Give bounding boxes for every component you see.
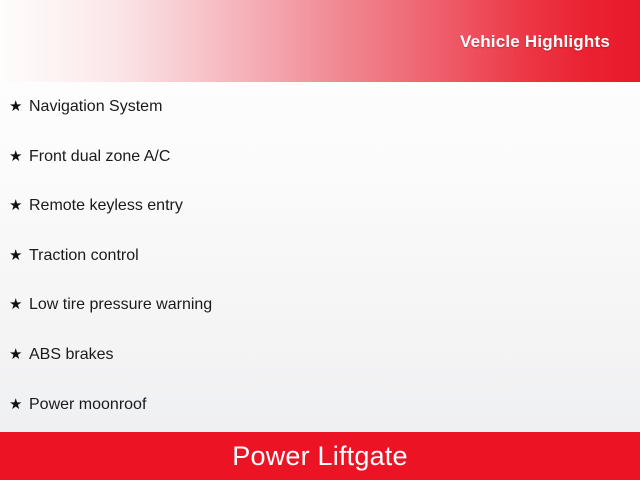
list-item: ★Power moonroof xyxy=(0,394,640,416)
vehicle-highlights-slide: Vehicle Highlights ★Navigation System★Fr… xyxy=(0,0,640,480)
header-banner: Vehicle Highlights xyxy=(0,0,640,82)
vehicle-highlights-list: ★Navigation System★Front dual zone A/C★R… xyxy=(0,82,640,480)
footer-banner: Power Liftgate xyxy=(0,432,640,480)
list-item: ★ABS brakes xyxy=(0,344,640,366)
star-bullet-icon: ★ xyxy=(9,245,29,267)
list-item: ★Front dual zone A/C xyxy=(0,146,640,168)
highlight-label: ABS brakes xyxy=(29,344,113,366)
footer-feature-title: Power Liftgate xyxy=(232,443,407,470)
highlight-label: Remote keyless entry xyxy=(29,195,183,217)
highlight-label: Power moonroof xyxy=(29,394,146,416)
highlight-label: Navigation System xyxy=(29,96,162,118)
star-bullet-icon: ★ xyxy=(9,394,29,416)
list-item: ★Remote keyless entry xyxy=(0,195,640,217)
highlight-label: Low tire pressure warning xyxy=(29,294,212,316)
star-bullet-icon: ★ xyxy=(9,195,29,217)
star-bullet-icon: ★ xyxy=(9,96,29,118)
list-item: ★Traction control xyxy=(0,245,640,267)
highlight-label: Front dual zone A/C xyxy=(29,146,170,168)
star-bullet-icon: ★ xyxy=(9,146,29,168)
star-bullet-icon: ★ xyxy=(9,294,29,316)
highlight-label: Traction control xyxy=(29,245,139,267)
list-item: ★Low tire pressure warning xyxy=(0,294,640,316)
list-item: ★Navigation System xyxy=(0,96,640,118)
star-bullet-icon: ★ xyxy=(9,344,29,366)
page-title: Vehicle Highlights xyxy=(460,33,610,50)
